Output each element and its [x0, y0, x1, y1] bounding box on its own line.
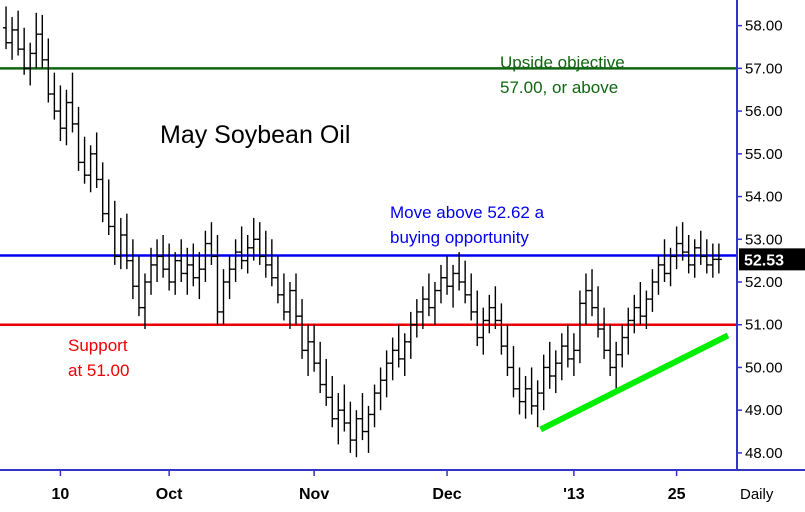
date-tick-label: Oct: [156, 486, 183, 503]
annotation-buying-opportunity-line1: Move above 52.62 a: [390, 203, 545, 222]
chart-container: 58.0057.0056.0055.0054.0053.0052.0051.00…: [0, 0, 805, 512]
annotation-upside-objective-line2: 57.00, or above: [500, 78, 618, 97]
price-tick-label: 54.00: [745, 189, 783, 206]
annotation-support-line1: Support: [68, 336, 128, 355]
date-tick-label: Dec: [432, 486, 461, 503]
annotation-buying-opportunity-line2: buying opportunity: [390, 228, 529, 247]
annotation-support-line2: at 51.00: [68, 361, 129, 380]
date-tick-label: 25: [668, 486, 686, 503]
interval-label: Daily: [740, 486, 774, 503]
chart-title: May Soybean Oil: [160, 121, 350, 149]
price-tick-label: 49.00: [745, 402, 783, 419]
price-tick-label: 51.00: [745, 317, 783, 334]
price-tick-label: 55.00: [745, 146, 783, 163]
annotation-upside-objective-line1: Upside objective: [500, 53, 625, 72]
price-tick-label: 50.00: [745, 359, 783, 376]
price-tick-label: 52.00: [745, 274, 783, 291]
price-tick-label: 56.00: [745, 103, 783, 120]
price-tick-label: 58.00: [745, 18, 783, 35]
date-tick-label: '13: [563, 486, 585, 503]
price-tick-label: 57.00: [745, 60, 783, 77]
price-tick-label: 48.00: [745, 445, 783, 462]
date-tick-label: Nov: [299, 486, 329, 503]
date-tick-label: 10: [52, 486, 70, 503]
price-chart-svg: 58.0057.0056.0055.0054.0053.0052.0051.00…: [0, 0, 805, 512]
price-tick-label: 53.00: [745, 231, 783, 248]
last-price-value: 52.53: [744, 252, 784, 269]
